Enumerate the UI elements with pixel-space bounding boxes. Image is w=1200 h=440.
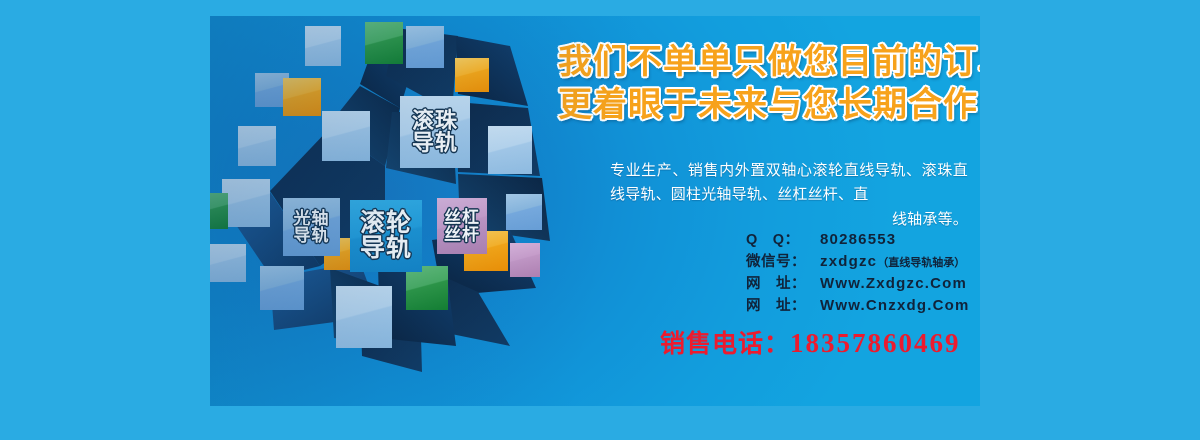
contact-label-website-2: 网 址： <box>746 294 820 315</box>
cube-tile <box>488 126 532 174</box>
cube-tile <box>260 266 304 310</box>
cube-tile <box>305 26 341 66</box>
contact-block: Q Q： 80286553 微信号： zxdgzc （直线导轨轴承） 网 址： … <box>746 228 970 316</box>
sales-phone-block[interactable]: 销售电话：18357860469 <box>660 324 961 360</box>
product-cube-gunlun-daogui[interactable]: 滚轮 导轨 <box>350 200 422 272</box>
banner-panel: 滚珠 导轨 光轴 导轨 滚轮 导轨 丝杠 丝杆 我们不单单只做您目前的订单 更着… <box>210 16 980 406</box>
contact-label-wechat: 微信号： <box>746 250 820 271</box>
contact-value-wechat[interactable]: zxdgzc <box>820 253 877 270</box>
sales-phone-label: 销售电话： <box>660 330 790 358</box>
cube-tile-green <box>406 266 448 310</box>
contact-value-website-1[interactable]: Www.Zxdgzc.Com <box>820 275 967 292</box>
headline-line-1: 我们不单单只做您目前的订单 <box>558 41 968 84</box>
contact-value-qq[interactable]: 80286553 <box>820 231 896 248</box>
product-cube-gunzhu-daogui[interactable]: 滚珠 导轨 <box>400 96 470 168</box>
cube-tile-pink <box>510 243 540 277</box>
product-cube-line2: 导轨 <box>294 227 330 244</box>
product-cube-sigang-sigan[interactable]: 丝杠 丝杆 <box>437 198 487 254</box>
product-cube-line1: 丝杠 <box>444 209 480 226</box>
cube-tile <box>222 179 270 227</box>
cube-tile <box>406 26 444 68</box>
cube-tile <box>238 126 276 166</box>
contact-label-qq: Q Q： <box>746 228 820 249</box>
cube-tile-green <box>210 193 228 229</box>
description-line-1: 专业生产、销售内外置双轴心滚轮直线导轨、 <box>610 162 922 179</box>
cube-tile-orange <box>283 78 321 116</box>
cube-tile <box>506 194 542 230</box>
product-cube-line1: 滚轮 <box>360 211 412 237</box>
contact-row-website-2: 网 址： Www.Cnzxdg.Com <box>746 294 970 315</box>
product-cube-line2: 导轨 <box>360 236 412 262</box>
contact-value-website-2[interactable]: Www.Cnzxdg.Com <box>820 297 970 314</box>
cube-tile <box>336 286 392 348</box>
contact-row-qq: Q Q： 80286553 <box>746 228 970 249</box>
product-cube-line1: 滚珠 <box>412 110 458 132</box>
sales-phone-number[interactable]: 18357860469 <box>790 328 961 358</box>
contact-label-website-1: 网 址： <box>746 272 820 293</box>
contact-row-website-1: 网 址： Www.Zxdgzc.Com <box>746 272 970 293</box>
product-cube-line2: 导轨 <box>412 132 458 154</box>
contact-row-wechat: 微信号： zxdgzc （直线导轨轴承） <box>746 250 970 271</box>
cube-cluster-graphic: 滚珠 导轨 光轴 导轨 滚轮 导轨 丝杠 丝杆 <box>210 16 560 406</box>
headline-line-2: 更着眼于未来与您长期合作 <box>558 84 968 127</box>
banner-stage: 滚珠 导轨 光轴 导轨 滚轮 导轨 丝杠 丝杆 我们不单单只做您目前的订单 更着… <box>0 0 1200 440</box>
description-block: 专业生产、销售内外置双轴心滚轮直线导轨、滚珠直线导轨、圆柱光轴导轨、丝杠丝杆、直… <box>610 159 968 232</box>
product-cube-guangzhou-daogui[interactable]: 光轴 导轨 <box>283 198 340 256</box>
cube-tile <box>322 111 370 161</box>
product-cube-line2: 丝杆 <box>444 226 480 243</box>
cube-tile <box>210 244 246 282</box>
cube-tile-orange <box>455 58 489 92</box>
cube-tile-green <box>365 22 403 64</box>
headline-block: 我们不单单只做您目前的订单 更着眼于未来与您长期合作 <box>558 41 968 126</box>
product-cube-line1: 光轴 <box>294 210 330 227</box>
contact-note-wechat: （直线导轨轴承） <box>877 254 965 270</box>
